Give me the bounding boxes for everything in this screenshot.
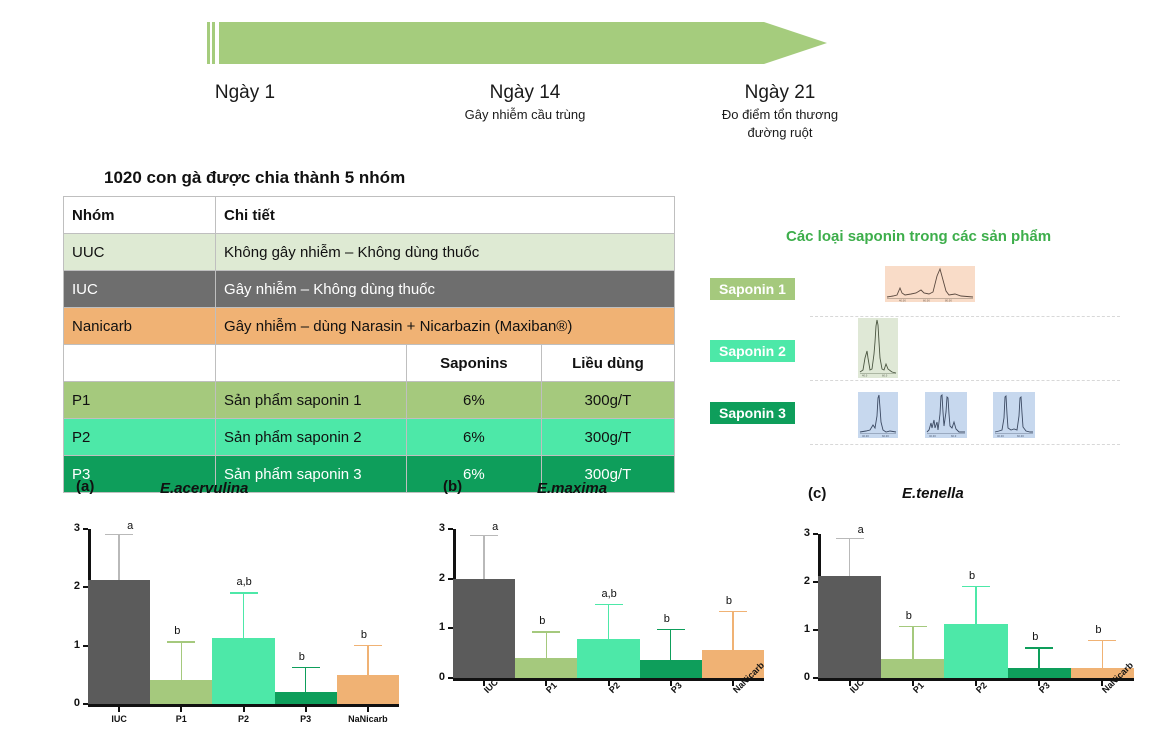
header-detail: Chi tiết [216, 197, 675, 234]
y-tick-label: 0 [431, 671, 445, 683]
row-detail: Sản phẩm saponin 2 [216, 419, 407, 456]
svg-text:80.00: 80.00 [945, 300, 952, 303]
chart-e-maxima: (b) E.maxima 0123aIUCbP1a,bP2bP3bNaNicar… [425, 470, 770, 735]
error-bar-cap [470, 535, 498, 537]
significance-label: b [1095, 624, 1101, 636]
timeline-tick-strip-1 [207, 22, 210, 64]
significance-label: b [664, 613, 670, 625]
svg-text:60.00: 60.00 [882, 435, 889, 438]
group-table: Nhóm Chi tiết UUC Không gây nhiễm – Khôn… [63, 196, 675, 493]
x-tick [367, 707, 369, 712]
chart-a-plot: 0123aIUCbP1a,bP2bP3bNaNicarb [60, 515, 405, 730]
row-group: P2 [64, 419, 216, 456]
svg-text:40.0: 40.0 [862, 375, 868, 378]
y-tick [448, 528, 453, 530]
y-tick-label: 2 [66, 580, 80, 592]
row-group: UUC [64, 234, 216, 271]
error-bar-cap [167, 641, 195, 643]
error-bar-cap [962, 586, 990, 588]
saponin-row-1: Saponin 1 40.0060.0080.00 [710, 266, 1150, 324]
error-bar-cap [292, 667, 320, 669]
chart-c-plot: 0123aIUCbP1bP2bP3bNaNicarb [790, 520, 1140, 730]
error-bar-cap [595, 604, 623, 606]
subheader-blank-group [64, 345, 216, 382]
group-table-title: 1020 con gà được chia thành 5 nhóm [104, 168, 405, 188]
error-bar-cap [230, 592, 258, 594]
significance-label: a [492, 521, 498, 533]
timeline-day14-title: Ngày 14 [430, 82, 620, 104]
error-bar-cap [1025, 647, 1053, 649]
error-bar-cap [719, 611, 747, 613]
chromatogram-trace-icon: 40.0060.00 [858, 392, 898, 438]
chromatogram-saponin-3-b: 40.0060.0 [925, 392, 967, 438]
subheader-blank-detail [216, 345, 407, 382]
header-group: Nhóm [64, 197, 216, 234]
error-bar-stem [367, 645, 369, 675]
chart-b-title: E.maxima [537, 480, 607, 497]
error-bar-stem [1102, 640, 1104, 669]
error-bar-stem [912, 626, 914, 659]
chromatogram-saponin-2: 40.060.0 [858, 318, 898, 378]
bar-p2 [944, 624, 1007, 678]
error-bar-stem [975, 586, 977, 624]
table-header-row: Nhóm Chi tiết [64, 197, 675, 234]
chart-e-tenella: (c) E.tenella 0123aIUCbP1bP2bP3bNaNicarb [790, 470, 1140, 735]
chromatogram-trace-icon: 40.0060.0 [925, 392, 967, 438]
saponin-badge-1: Saponin 1 [710, 278, 795, 300]
saponin-divider-1 [810, 316, 1120, 317]
row-detail: Sản phẩm saponin 1 [216, 382, 407, 419]
chart-a-panel-tag: (a) [76, 478, 94, 495]
row-dose: 300g/T [541, 419, 674, 456]
error-bar-stem [849, 538, 851, 576]
y-tick-label: 2 [796, 575, 810, 587]
y-tick-label: 1 [431, 621, 445, 633]
chart-b-panel-tag: (b) [443, 478, 462, 495]
chart-e-acervulina: (a) E.acervulina 0123aIUCbP1a,bP2bP3bNaN… [60, 470, 405, 735]
y-tick-label: 0 [66, 697, 80, 709]
x-axis-label-p3: P3 [275, 714, 337, 724]
chromatogram-saponin-1: 40.0060.0080.00 [885, 266, 975, 302]
error-bar-cap [105, 534, 133, 536]
chart-b-plot: 0123aIUCbP1a,bP2bP3bNaNicarb [425, 515, 770, 730]
x-tick [305, 707, 307, 712]
timeline-day14: Ngày 14 Gây nhiễm cầu trùng [430, 82, 620, 124]
error-bar-cap [836, 538, 864, 540]
chromatogram-saponin-3-a: 40.0060.00 [858, 392, 898, 438]
x-axis-label-nanicarb: NaNicarb [337, 714, 399, 724]
bar-iuc [818, 576, 881, 678]
header-saponins: Saponins [406, 345, 541, 382]
timeline-day21: Ngày 21 Đo điểm tổn thương đường ruột [680, 82, 880, 141]
timeline-arrow-head [764, 22, 827, 64]
svg-text:40.00: 40.00 [862, 435, 869, 438]
table-row: P1 Sản phẩm saponin 1 6% 300g/T [64, 382, 675, 419]
y-tick [83, 528, 88, 530]
error-bar-stem [546, 631, 548, 657]
error-bar-cap [532, 631, 560, 633]
bar-p1 [515, 658, 577, 678]
y-tick-label: 2 [431, 572, 445, 584]
significance-label: b [726, 595, 732, 607]
saponin-panel-title: Các loại saponin trong các sản phẩm [786, 228, 1051, 245]
y-tick-label: 1 [796, 623, 810, 635]
error-bar-stem [670, 629, 672, 660]
significance-label: b [969, 570, 975, 582]
chromatogram-trace-icon: 40.0060.0080.00 [885, 266, 975, 302]
table-row: P2 Sản phẩm saponin 2 6% 300g/T [64, 419, 675, 456]
x-tick [118, 707, 120, 712]
svg-text:40.00: 40.00 [899, 300, 906, 303]
timeline-day1: Ngày 1 [150, 82, 340, 104]
timeline-day21-title: Ngày 21 [680, 82, 880, 104]
chart-c-title: E.tenella [902, 485, 964, 502]
saponin-badge-2: Saponin 2 [710, 340, 795, 362]
row-detail: Gây nhiễm – Không dùng thuốc [216, 271, 675, 308]
bar-p2 [212, 638, 274, 705]
error-bar-stem [732, 611, 734, 650]
table-row: UUC Không gây nhiễm – Không dùng thuốc [64, 234, 675, 271]
table-row: IUC Gây nhiễm – Không dùng thuốc [64, 271, 675, 308]
error-bar-stem [1038, 647, 1040, 668]
svg-text:60.00: 60.00 [923, 300, 930, 303]
bar-p3 [275, 692, 337, 704]
timeline-day14-subtitle: Gây nhiễm cầu trùng [430, 106, 620, 124]
saponin-panel: Saponin 1 40.0060.0080.00 Saponin 2 40.0… [710, 258, 1150, 453]
error-bar-stem [608, 604, 610, 640]
y-tick [813, 533, 818, 535]
saponin-divider-3 [810, 444, 1120, 445]
significance-label: b [906, 610, 912, 622]
significance-label: b [299, 651, 305, 663]
significance-label: b [1032, 631, 1038, 643]
significance-label: a [127, 520, 133, 532]
chromatogram-trace-icon: 40.060.0 [858, 318, 898, 378]
significance-label: a,b [602, 588, 617, 600]
x-axis-label-p1: P1 [150, 714, 212, 724]
bar-iuc [453, 579, 515, 678]
timeline-day21-subtitle-line2: đường ruột [680, 124, 880, 142]
error-bar-cap [1088, 640, 1116, 642]
y-tick-label: 0 [796, 671, 810, 683]
error-bar-cap [899, 626, 927, 628]
x-tick [180, 707, 182, 712]
significance-label: b [361, 629, 367, 641]
timeline-tick-strip-2 [212, 22, 215, 64]
chromatogram-trace-icon: 40.0060.00 [993, 392, 1035, 438]
error-bar-cap [657, 629, 685, 631]
table-row: Nanicarb Gây nhiễm – dùng Narasin + Nica… [64, 308, 675, 345]
chromatogram-saponin-3-c: 40.0060.00 [993, 392, 1035, 438]
error-bar-stem [305, 667, 307, 693]
bar-p3 [1008, 668, 1071, 678]
chart-c-panel-tag: (c) [808, 485, 826, 502]
y-tick-label: 1 [66, 639, 80, 651]
row-saponins: 6% [406, 419, 541, 456]
saponin-row-2: Saponin 2 40.060.0 [710, 328, 1150, 386]
saponin-badge-3: Saponin 3 [710, 402, 795, 424]
bar-p2 [577, 639, 639, 678]
bar-iuc [88, 580, 150, 704]
row-group: P1 [64, 382, 216, 419]
header-dose: Liều dùng [541, 345, 674, 382]
timeline-day1-title: Ngày 1 [150, 82, 340, 104]
error-bar-cap [354, 645, 382, 647]
saponin-row-3: Saponin 3 40.0060.00 40.0060.0 [710, 390, 1150, 448]
significance-label: a,b [237, 576, 252, 588]
bar-nanicarb [337, 675, 399, 704]
y-tick-label: 3 [796, 527, 810, 539]
row-dose: 300g/T [541, 382, 674, 419]
x-axis-label-p2: P2 [212, 714, 274, 724]
x-axis-label-iuc: IUC [88, 714, 150, 724]
significance-label: a [858, 524, 864, 536]
x-tick [243, 707, 245, 712]
row-saponins: 6% [406, 382, 541, 419]
bar-p1 [881, 659, 944, 678]
significance-label: b [174, 625, 180, 637]
error-bar-stem [483, 535, 485, 579]
row-detail: Không gây nhiễm – Không dùng thuốc [216, 234, 675, 271]
row-group: Nanicarb [64, 308, 216, 345]
table-subheader-row: Saponins Liều dùng [64, 345, 675, 382]
y-tick-label: 3 [431, 522, 445, 534]
svg-text:40.00: 40.00 [997, 435, 1004, 438]
svg-text:60.0: 60.0 [882, 375, 888, 378]
y-tick-label: 3 [66, 522, 80, 534]
chart-a-title: E.acervulina [160, 480, 248, 497]
timeline-day21-subtitle-line1: Đo điểm tổn thương [680, 106, 880, 124]
svg-text:40.00: 40.00 [929, 435, 936, 438]
error-bar-stem [181, 641, 183, 680]
error-bar-stem [118, 534, 120, 580]
bar-p3 [640, 660, 702, 678]
svg-text:60.00: 60.00 [1017, 435, 1024, 438]
significance-label: b [539, 615, 545, 627]
timeline-arrow-body [219, 22, 764, 64]
svg-text:60.0: 60.0 [951, 435, 957, 438]
row-group: IUC [64, 271, 216, 308]
timeline-arrow [207, 22, 827, 64]
row-detail: Gây nhiễm – dùng Narasin + Nicarbazin (M… [216, 308, 675, 345]
error-bar-stem [243, 592, 245, 638]
saponin-divider-2 [810, 380, 1120, 381]
bar-p1 [150, 680, 212, 704]
